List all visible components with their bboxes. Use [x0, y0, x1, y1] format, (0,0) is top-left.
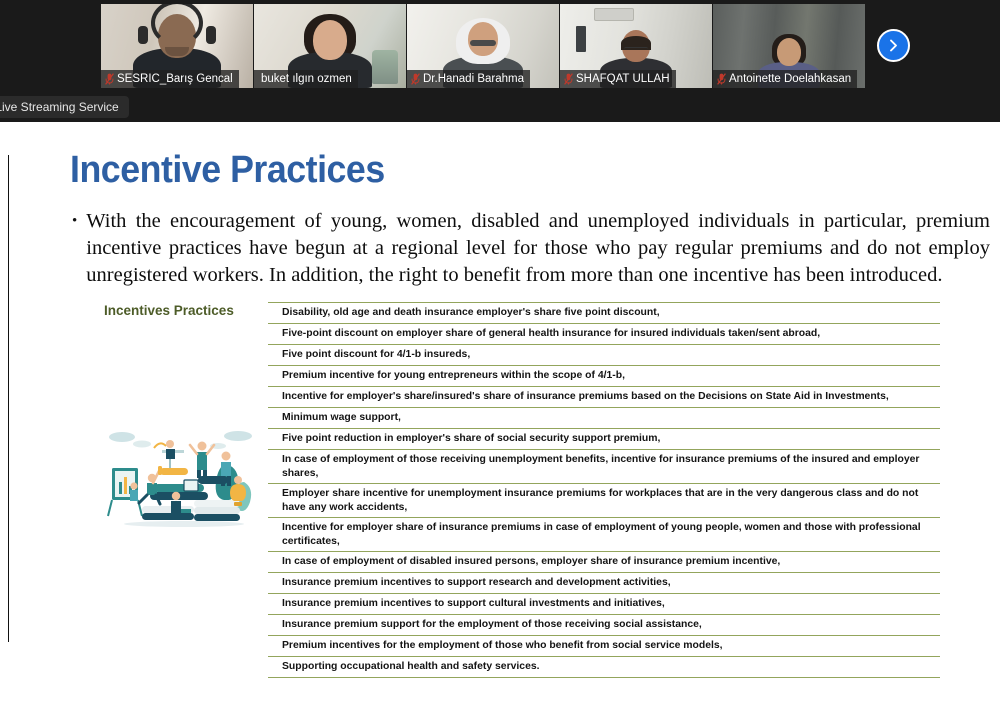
participant-tile[interactable]: Dr.Hanadi Barahma	[407, 4, 559, 88]
table-row: Supporting occupational health and safet…	[268, 656, 940, 678]
participant-name-badge: buket ılgın ozmen	[254, 70, 358, 88]
incentive-row-list: Disability, old age and death insurance …	[268, 302, 940, 678]
table-row: Five-point discount on employer share of…	[268, 323, 940, 344]
table-row: Insurance premium incentives to support …	[268, 572, 940, 593]
table-row: In case of employment of disabled insure…	[268, 551, 940, 572]
participant-name: Antoinette Doelahkasan	[729, 70, 851, 88]
table-row: Disability, old age and death insurance …	[268, 302, 940, 323]
participant-name-badge: Antoinette Doelahkasan	[713, 70, 857, 88]
table-row: Five point reduction in employer's share…	[268, 428, 940, 449]
participant-name: Dr.Hanadi Barahma	[423, 70, 524, 88]
mic-muted-icon	[411, 73, 420, 85]
mic-muted-icon	[717, 73, 726, 85]
participant-name-badge: SESRIC_Barış Gencal	[101, 70, 239, 88]
incentives-category-label: Incentives Practices	[104, 303, 234, 318]
participant-name: SESRIC_Barış Gencal	[117, 70, 233, 88]
next-participants-button[interactable]	[877, 29, 910, 62]
video-conference-strip: SESRIC_Barış Gencal buket ılgın ozmen	[0, 0, 1000, 122]
table-row: Minimum wage support,	[268, 407, 940, 428]
presentation-slide: Incentive Practices • With the encourage…	[0, 122, 1000, 724]
bullet-marker: •	[72, 208, 77, 289]
participant-name-badge: SHAFQAT ULLAH	[560, 70, 676, 88]
participant-tile[interactable]: Antoinette Doelahkasan	[713, 4, 865, 88]
table-row: Incentive for employer share of insuranc…	[268, 517, 940, 551]
people-on-books-illustration	[98, 424, 270, 528]
mic-muted-icon	[105, 73, 114, 85]
page-title: Incentive Practices	[70, 149, 385, 192]
live-streaming-label: tom Live Streaming Service	[0, 96, 129, 118]
table-row: In case of employment of those receiving…	[268, 449, 940, 483]
participant-tile[interactable]: SHAFQAT ULLAH	[560, 4, 712, 88]
participant-name-badge: Dr.Hanadi Barahma	[407, 70, 530, 88]
participant-tile[interactable]: SESRIC_Barış Gencal	[101, 4, 253, 88]
participant-name: buket ılgın ozmen	[261, 70, 352, 88]
participant-name: SHAFQAT ULLAH	[576, 70, 670, 88]
participant-tile[interactable]: buket ılgın ozmen	[254, 4, 406, 88]
table-row: Incentive for employer's share/insured's…	[268, 386, 940, 407]
table-row: Five point discount for 4/1-b insureds,	[268, 344, 940, 365]
chevron-right-icon	[886, 38, 901, 53]
bullet-paragraph-text: With the encouragement of young, women, …	[86, 208, 990, 289]
table-row: Insurance premium support for the employ…	[268, 614, 940, 635]
table-row: Premium incentive for young entrepreneur…	[268, 365, 940, 386]
table-row: Insurance premium incentives to support …	[268, 593, 940, 614]
mic-muted-icon	[564, 73, 573, 85]
table-row: Employer share incentive for unemploymen…	[268, 483, 940, 517]
table-row: Premium incentives for the employment of…	[268, 635, 940, 656]
slide-left-rule	[8, 155, 9, 642]
screenshot-root: SESRIC_Barış Gencal buket ılgın ozmen	[0, 0, 1000, 724]
live-streaming-label-text: tom Live Streaming Service	[0, 100, 119, 114]
bullet-paragraph: • With the encouragement of young, women…	[72, 208, 990, 289]
